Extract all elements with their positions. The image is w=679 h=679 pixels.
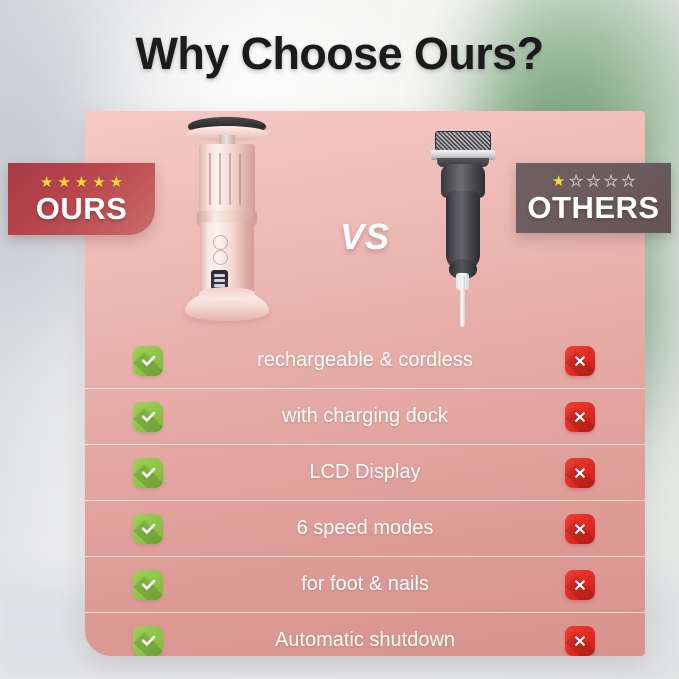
star-outline-icon: ★ (604, 174, 617, 189)
infographic-stage: Why Choose Ours? (0, 0, 679, 679)
banner-ours: ★ ★ ★ ★ ★ OURS (8, 163, 155, 235)
star-icon: ★ (75, 175, 88, 190)
star-icon: ★ (57, 175, 70, 190)
banner-others-label: OTHERS (527, 192, 659, 223)
table-row: with charging dock (85, 388, 645, 444)
table-row: for foot & nails (85, 556, 645, 612)
table-row: rechargeable & cordless (85, 333, 645, 388)
banner-others: ★ ★ ★ ★ ★ OTHERS (516, 163, 671, 233)
feature-label: for foot & nails (85, 573, 645, 596)
page-title: Why Choose Ours? (0, 28, 679, 80)
feature-label: 6 speed modes (85, 517, 645, 540)
table-row: LCD Display (85, 444, 645, 500)
banner-ours-label: OURS (36, 193, 128, 224)
table-row: 6 speed modes (85, 500, 645, 556)
star-outline-icon: ★ (569, 174, 582, 189)
cross-icon (565, 458, 595, 488)
rating-stars-others: ★ ★ ★ ★ ★ (552, 174, 635, 189)
star-icon: ★ (40, 175, 53, 190)
star-outline-icon: ★ (587, 174, 600, 189)
star-icon: ★ (110, 175, 123, 190)
feature-label: rechargeable & cordless (85, 349, 645, 372)
cross-icon (565, 570, 595, 600)
star-outline-icon: ★ (622, 174, 635, 189)
feature-label: with charging dock (85, 405, 645, 428)
star-icon: ★ (552, 174, 565, 189)
rating-stars-ours: ★ ★ ★ ★ ★ (40, 175, 123, 190)
star-icon: ★ (92, 175, 105, 190)
table-row: Automatic shutdown (85, 612, 645, 656)
cross-icon (565, 346, 595, 376)
cross-icon (565, 402, 595, 432)
cross-icon (565, 514, 595, 544)
cross-icon (565, 626, 595, 656)
feature-label: Automatic shutdown (85, 629, 645, 652)
feature-label: LCD Display (85, 461, 645, 484)
feature-list: rechargeable & cordless with charging do… (85, 333, 645, 656)
